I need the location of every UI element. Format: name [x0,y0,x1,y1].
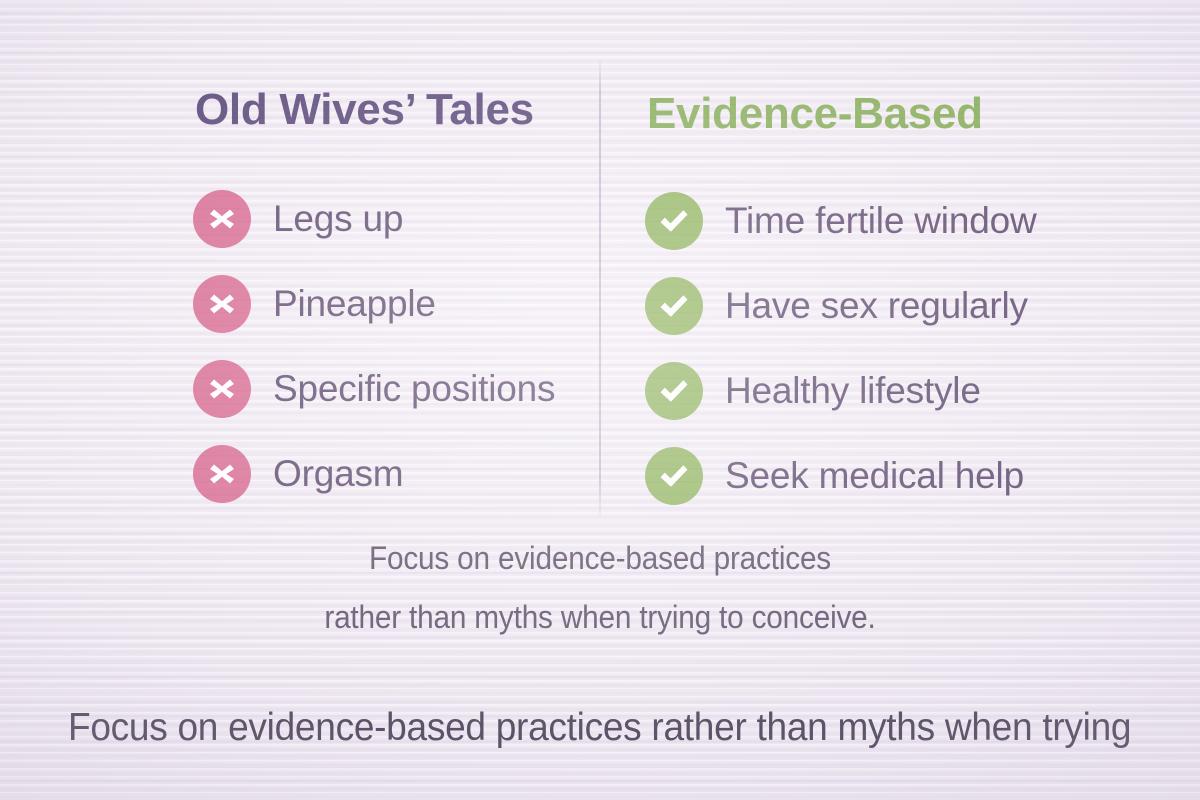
column-old-wives-tales: Old Wives’ Tales Legs up [185,0,585,516]
check-icon [645,192,703,250]
left-column-list: Legs up Pineapple [185,176,585,516]
list-item-label: Have sex regularly [725,285,1028,327]
list-item[interactable]: Legs up [193,176,585,261]
caption-line-2: rather than myths when trying to conceiv… [42,601,1158,633]
check-icon [645,277,703,335]
right-column-list: Time fertile window Have sex regularly [640,178,1160,518]
list-item[interactable]: Pineapple [193,261,585,346]
subtitle-text: Focus on evidence-based practices rather… [68,706,1131,750]
check-icon [645,362,703,420]
list-item-label: Seek medical help [725,455,1024,497]
slide-canvas: Old Wives’ Tales Legs up [0,0,1200,800]
list-item-label: Pineapple [273,283,436,325]
list-item-label: Specific positions [273,368,555,410]
list-item[interactable]: Specific positions [193,346,585,431]
column-evidence-based: Evidence-Based Time fertile window [640,0,1160,518]
list-item[interactable]: Time fertile window [645,178,1160,263]
check-icon [645,447,703,505]
cross-icon [193,275,251,333]
right-column-heading: Evidence-Based [640,0,1160,139]
left-column-heading: Old Wives’ Tales [185,0,585,135]
list-item-label: Legs up [273,198,403,240]
list-item[interactable]: Healthy lifestyle [645,348,1160,433]
list-item[interactable]: Have sex regularly [645,263,1160,348]
bottom-subtitle: Focus on evidence-based practices rather… [0,706,1200,750]
cross-icon [193,360,251,418]
cross-icon [193,190,251,248]
summary-caption: Focus on evidence-based practices rather… [0,542,1200,633]
column-divider [599,60,601,516]
comparison-columns: Old Wives’ Tales Legs up [0,0,1200,530]
list-item-label: Time fertile window [725,200,1036,242]
caption-line-1: Focus on evidence-based practices [42,542,1158,574]
cross-icon [193,445,251,503]
list-item-label: Healthy lifestyle [725,370,981,412]
list-item[interactable]: Seek medical help [645,433,1160,518]
list-item-label: Orgasm [273,453,403,495]
list-item[interactable]: Orgasm [193,431,585,516]
